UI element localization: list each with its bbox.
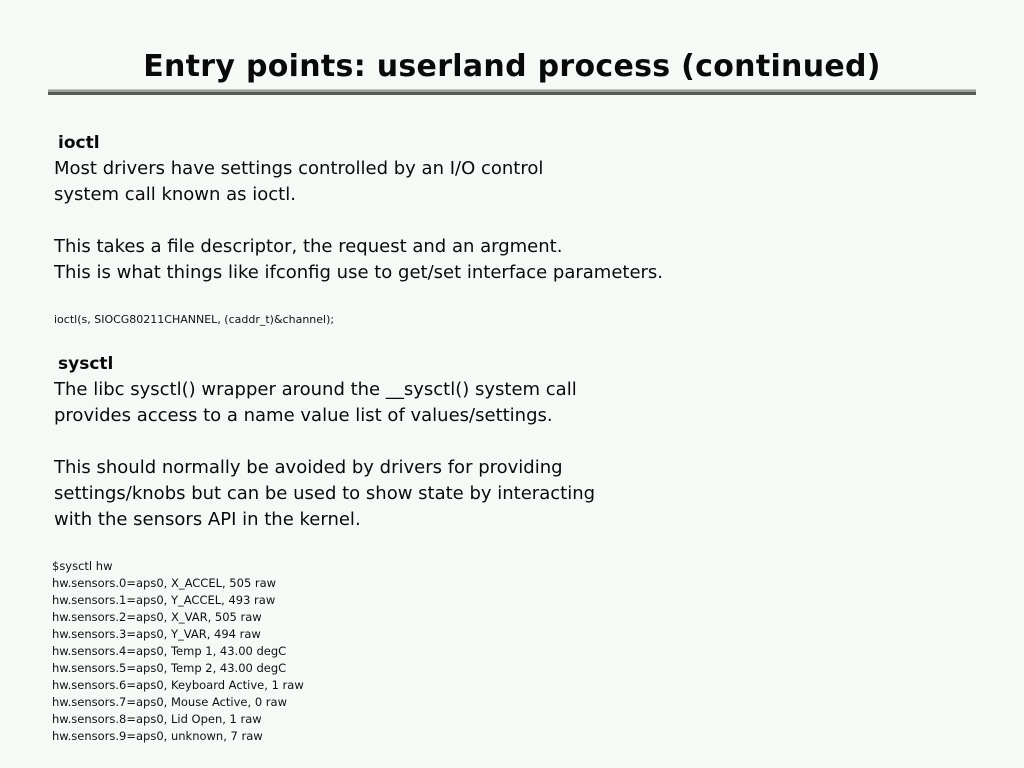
sysctl-paragraph-2: This should normally be avoided by drive… [54,455,984,533]
console-output-block: $sysctl hw hw.sensors.0=aps0, X_ACCEL, 5… [52,558,572,745]
spacer [54,286,984,312]
spacer [54,429,984,455]
console-prompt-line: $sysctl hw [52,558,572,575]
presentation-slide: Entry points: userland process (continue… [0,0,1024,768]
console-line: hw.sensors.3=aps0, Y_VAR, 494 raw [52,626,572,643]
title-divider [48,89,976,95]
console-line: hw.sensors.2=aps0, X_VAR, 505 raw [52,609,572,626]
spacer [54,327,984,353]
slide-body: ioctl Most drivers have settings control… [54,132,984,533]
console-line: hw.sensors.4=aps0, Temp 1, 43.00 degC [52,643,572,660]
spacer [54,208,984,234]
console-line: hw.sensors.1=aps0, Y_ACCEL, 493 raw [52,592,572,609]
ioctl-paragraph-2: This takes a file descriptor, the reques… [54,234,984,286]
console-line: hw.sensors.9=aps0, unknown, 7 raw [52,728,572,745]
section-heading-ioctl: ioctl [58,132,984,154]
console-line: hw.sensors.6=aps0, Keyboard Active, 1 ra… [52,677,572,694]
console-line: hw.sensors.8=aps0, Lid Open, 1 raw [52,711,572,728]
console-line: hw.sensors.5=aps0, Temp 2, 43.00 degC [52,660,572,677]
ioctl-code-example: ioctl(s, SIOCG80211CHANNEL, (caddr_t)&ch… [54,312,984,327]
section-heading-sysctl: sysctl [58,353,984,375]
console-line: hw.sensors.0=aps0, X_ACCEL, 505 raw [52,575,572,592]
sysctl-paragraph-1: The libc sysctl() wrapper around the __s… [54,377,984,429]
console-output-lines: hw.sensors.0=aps0, X_ACCEL, 505 rawhw.se… [52,575,572,745]
console-line: hw.sensors.7=aps0, Mouse Active, 0 raw [52,694,572,711]
ioctl-paragraph-1: Most drivers have settings controlled by… [54,156,984,208]
page-title: Entry points: userland process (continue… [48,48,976,86]
